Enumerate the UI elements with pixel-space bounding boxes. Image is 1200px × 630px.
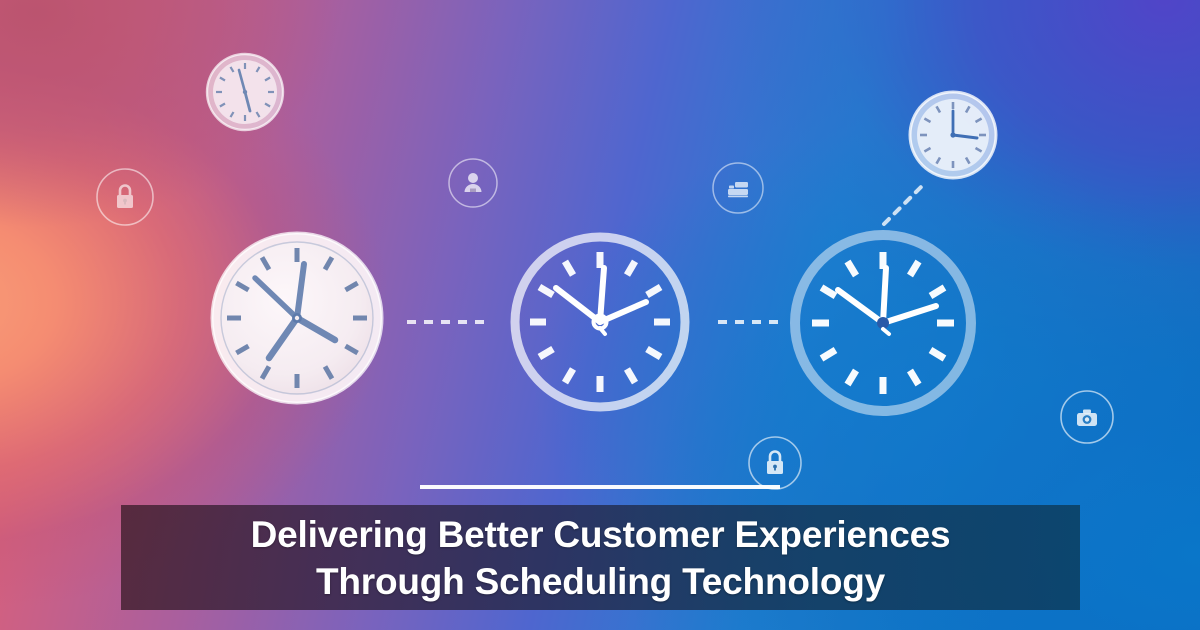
clock-large-center (508, 230, 692, 414)
clock-small-top-right (908, 90, 998, 180)
banner-image: Delivering Better Customer Experiences T… (0, 0, 1200, 630)
dashed-connector-diagonal (876, 176, 936, 236)
title-overlay-bar: Delivering Better Customer Experiences T… (121, 505, 1080, 610)
page-title-line-2: Through Scheduling Technology (316, 558, 885, 605)
clock-large-left (207, 228, 387, 408)
device-icon (728, 182, 748, 197)
user-icon-bubble (447, 157, 499, 209)
device-icon-bubble (711, 161, 765, 215)
clock-small-top-left (205, 52, 285, 132)
lock-icon-bubble-left (95, 167, 155, 227)
lock-icon-bubble-bottom (747, 435, 803, 491)
dashed-connector-left (400, 312, 500, 332)
title-divider-rule (420, 485, 780, 489)
page-title-line-1: Delivering Better Customer Experiences (251, 511, 951, 558)
clock-large-right (788, 228, 978, 418)
camera-icon-bubble (1059, 389, 1115, 445)
